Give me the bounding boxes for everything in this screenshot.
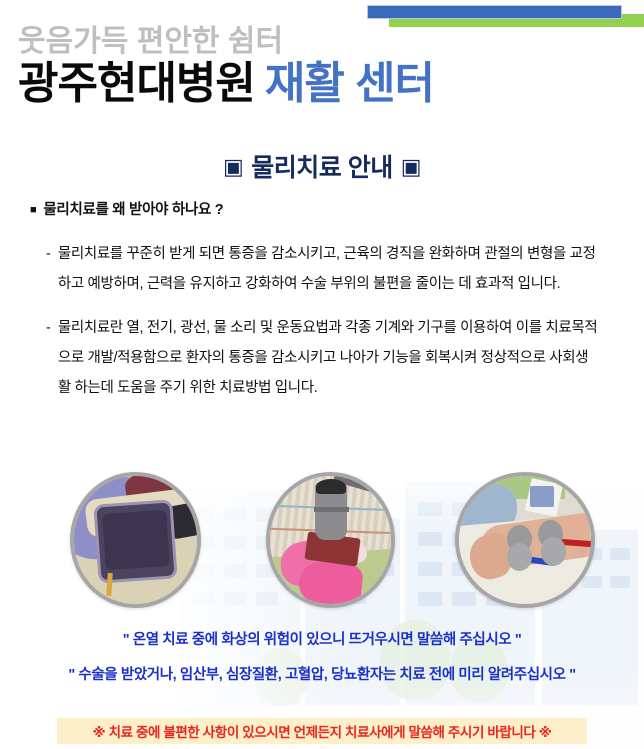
center-name: 재활 센터 xyxy=(265,59,434,108)
header-accent-bar-blue xyxy=(367,5,622,19)
answer-paragraph-1-text: 물리치료를 꾸준히 받게 되면 통증을 감소시키고, 근육의 경직을 완화하며 … xyxy=(58,239,598,299)
page-subtitle: ▣물리치료 안내▣ xyxy=(0,148,644,184)
square-bullet-icon: ■ xyxy=(30,204,36,216)
electrotherapy-photo xyxy=(455,472,595,608)
notice-banner: ※ 치료 중에 불편한 사항이 있으시면 언제든지 치료사에게 말씀해 주시기 … xyxy=(57,718,587,744)
physical-therapy-info-page: 웃음가득 편안한 쉼터 광주현대병원재활 센터 ▣물리치료 안내▣ ■물리치료를… xyxy=(0,0,644,749)
safety-quote-1: " 온열 치료 중에 화상의 위험이 있으니 뜨거우시면 말씀해 주십시오 " xyxy=(0,628,644,649)
hospital-name: 광주현대병원 xyxy=(18,59,255,108)
answer-paragraph-2: - 물리치료란 열, 전기, 광선, 물 소리 및 운동요법과 각종 기계와 기… xyxy=(46,313,621,403)
dash-marker-icon: - xyxy=(46,313,51,343)
square-marker-left-icon: ▣ xyxy=(223,154,243,179)
safety-quotes: " 온열 치료 중에 화상의 위험이 있으니 뜨거우시면 말씀해 주십시오 " … xyxy=(0,628,644,684)
hot-pack-therapy-photo xyxy=(70,472,201,608)
body-content: ■물리치료를 왜 받아야 하나요 ? - 물리치료를 꾸준히 받게 되면 통증을… xyxy=(0,198,644,403)
dash-marker-icon: - xyxy=(46,239,51,269)
square-marker-right-icon: ▣ xyxy=(401,154,421,179)
page-title: 광주현대병원재활 센터 xyxy=(18,62,434,106)
safety-quote-2: " 수술을 받았거나, 임산부, 심장질환, 고혈압, 당뇨환자는 치료 전에 … xyxy=(0,663,644,684)
therapy-photo-gallery xyxy=(0,470,644,610)
subtitle-text: 물리치료 안내 xyxy=(251,154,392,182)
answer-paragraph-1: - 물리치료를 꾸준히 받게 되면 통증을 감소시키고, 근육의 경직을 완화하… xyxy=(46,239,621,299)
section-question: ■물리치료를 왜 받아야 하나요 ? xyxy=(30,198,644,219)
section-question-text: 물리치료를 왜 받아야 하나요 ? xyxy=(43,202,223,218)
infrared-lamp-therapy-photo xyxy=(266,472,395,608)
notice-banner-text: ※ 치료 중에 불편한 사항이 있으시면 언제든지 치료사에게 말씀해 주시기 … xyxy=(93,721,552,741)
answer-paragraph-2-text: 물리치료란 열, 전기, 광선, 물 소리 및 운동요법과 각종 기계와 기구를… xyxy=(58,313,598,403)
hospital-tagline: 웃음가득 편안한 쉼터 xyxy=(18,16,283,60)
